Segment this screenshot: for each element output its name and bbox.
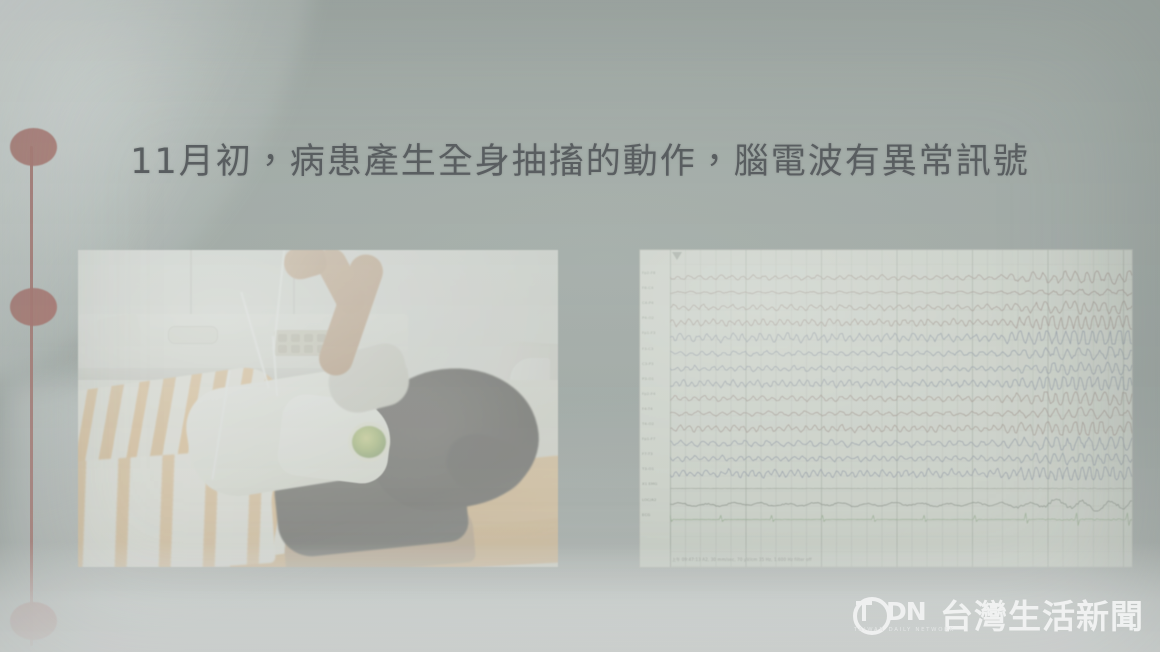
tdn-tagline: TAIWAN DAILY NETWORK (854, 627, 955, 633)
watermark: DN TAIWAN DAILY NETWORK 台灣生活新聞 (853, 594, 1144, 640)
tdn-letters: DN (886, 598, 926, 626)
watermark-chinese-title: 台灣生活新聞 (940, 598, 1144, 636)
slide-photo-scene: 11月初，病患產生全身抽搐的動作，腦電波有異常訊號 (0, 0, 1160, 652)
tdn-t-stem-icon (862, 601, 866, 621)
camera-vignette (0, 0, 1160, 652)
tdn-logo-icon: DN TAIWAN DAILY NETWORK (853, 594, 929, 640)
